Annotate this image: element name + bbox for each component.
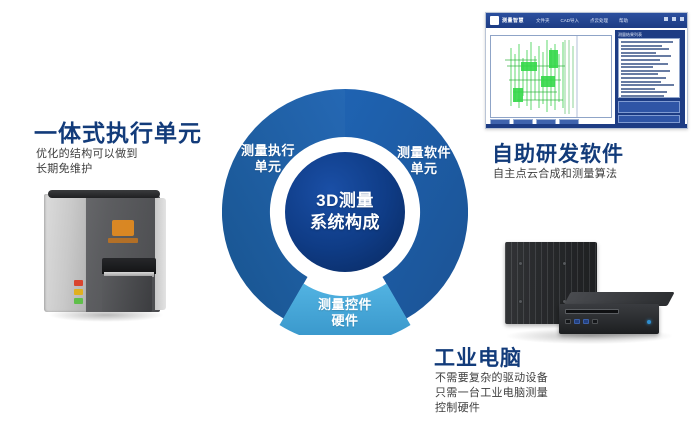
power-led-icon bbox=[647, 320, 651, 324]
list-item[interactable] bbox=[621, 88, 655, 90]
system-composition-donut-chart: 测量执行 单元 测量软件 单元 测量控件 硬件 3D测量 系统构成 bbox=[222, 89, 468, 335]
segment-label-line1: 测量控件 bbox=[285, 297, 405, 313]
list-item[interactable] bbox=[621, 91, 667, 93]
donut-label-execution-unit: 测量执行 单元 bbox=[220, 143, 316, 175]
pc-front-face bbox=[559, 304, 659, 334]
panel-heading-industrial-pc: 工业电脑 bbox=[434, 342, 522, 372]
list-item[interactable] bbox=[621, 59, 660, 61]
list-item[interactable] bbox=[621, 66, 653, 68]
app-menu-item-2[interactable]: 点云处理 bbox=[590, 18, 608, 24]
infographic-canvas: 测量执行 单元 测量软件 单元 测量控件 硬件 3D测量 系统构成 一体式执行单… bbox=[0, 0, 700, 440]
list-item[interactable] bbox=[621, 63, 668, 65]
software-screenshot-image: 测量智慧 文件夹 CAD导入 点云处理 帮助 点云视图 bbox=[485, 12, 688, 129]
segment-label-line1: 测量软件 bbox=[376, 145, 472, 161]
donut-label-control-hardware: 测量控件 硬件 bbox=[285, 297, 405, 329]
usb3-port-icon bbox=[583, 319, 589, 324]
machine-drawer bbox=[102, 276, 152, 312]
industrial-pc-image bbox=[497, 236, 683, 348]
center-title-line1: 3D测量 bbox=[280, 190, 410, 212]
list-item[interactable] bbox=[621, 77, 666, 79]
app-menu-item-3[interactable]: 帮助 bbox=[619, 18, 628, 24]
list-item[interactable] bbox=[621, 48, 669, 50]
industrial-pc-horizontal-unit bbox=[559, 292, 673, 336]
center-title-line2: 系统构成 bbox=[280, 212, 410, 234]
window-controls[interactable] bbox=[664, 17, 684, 21]
minimize-icon[interactable] bbox=[664, 17, 668, 21]
app-menu-bar: 文件夹 CAD导入 点云处理 帮助 bbox=[536, 18, 628, 24]
list-item[interactable] bbox=[621, 95, 664, 97]
machine-brand-logo-icon bbox=[112, 220, 134, 236]
list-item[interactable] bbox=[621, 84, 674, 86]
usb3-port-icon bbox=[574, 319, 580, 324]
results-panel: 测量结果列表 bbox=[615, 30, 685, 126]
pc-drive-slot bbox=[565, 309, 619, 314]
machine-right-edge bbox=[155, 198, 166, 310]
maximize-icon[interactable] bbox=[672, 17, 676, 21]
app-logo-icon bbox=[490, 16, 499, 25]
panel-heading-software: 自助研发软件 bbox=[492, 138, 624, 168]
donut-center-title: 3D测量 系统构成 bbox=[280, 190, 410, 234]
list-item[interactable] bbox=[621, 70, 670, 72]
list-item[interactable] bbox=[621, 41, 673, 43]
indicator-light-yellow-icon bbox=[74, 289, 83, 295]
list-item[interactable] bbox=[621, 81, 661, 83]
results-list[interactable] bbox=[618, 38, 680, 98]
usb-port-icon bbox=[565, 319, 571, 324]
panel-subtext-software: 自主点云合成和测量算法 bbox=[493, 167, 617, 182]
panel-heading-execution-unit: 一体式执行单元 bbox=[34, 114, 202, 148]
list-item[interactable] bbox=[621, 73, 658, 75]
app-brand-text: 测量智慧 bbox=[502, 17, 524, 24]
app-menu-item-0[interactable]: 文件夹 bbox=[536, 18, 550, 24]
panel-subtext-execution-unit: 优化的结构可以做到 长期免维护 bbox=[36, 147, 138, 177]
segment-label-line2: 单元 bbox=[220, 159, 316, 175]
indicator-light-green-icon bbox=[74, 298, 83, 304]
scanner-machine-image bbox=[44, 188, 168, 324]
app-menu-item-1[interactable]: CAD导入 bbox=[561, 18, 580, 24]
save-export-button[interactable] bbox=[618, 115, 680, 123]
segment-label-line1: 测量执行 bbox=[220, 143, 316, 159]
start-measurement-button[interactable] bbox=[618, 101, 680, 113]
pc-port-row bbox=[565, 319, 598, 324]
app-titlebar: 测量智慧 文件夹 CAD导入 点云处理 帮助 bbox=[486, 13, 687, 28]
list-item[interactable] bbox=[621, 55, 671, 57]
segment-label-line2: 硬件 bbox=[285, 313, 405, 329]
audio-port-icon bbox=[592, 319, 598, 324]
machine-top-rail bbox=[48, 190, 160, 198]
segment-label-line2: 单元 bbox=[376, 161, 472, 177]
screw-icon bbox=[563, 262, 566, 265]
screw-icon bbox=[519, 300, 522, 303]
screw-icon bbox=[519, 262, 522, 265]
donut-label-software-unit: 测量软件 单元 bbox=[376, 145, 472, 177]
list-item[interactable] bbox=[621, 45, 662, 47]
panel-subtext-industrial-pc: 不需要复杂的驱动设备 只需一台工业电脑测量 控制硬件 bbox=[435, 371, 548, 416]
pointcloud-canvas[interactable] bbox=[490, 35, 612, 118]
indicator-light-red-icon bbox=[74, 280, 83, 286]
machine-brand-text bbox=[108, 238, 138, 243]
list-item[interactable] bbox=[621, 52, 656, 54]
machine-indicator-lights bbox=[74, 280, 83, 310]
app-statusbar bbox=[486, 124, 687, 128]
close-icon[interactable] bbox=[680, 17, 684, 21]
